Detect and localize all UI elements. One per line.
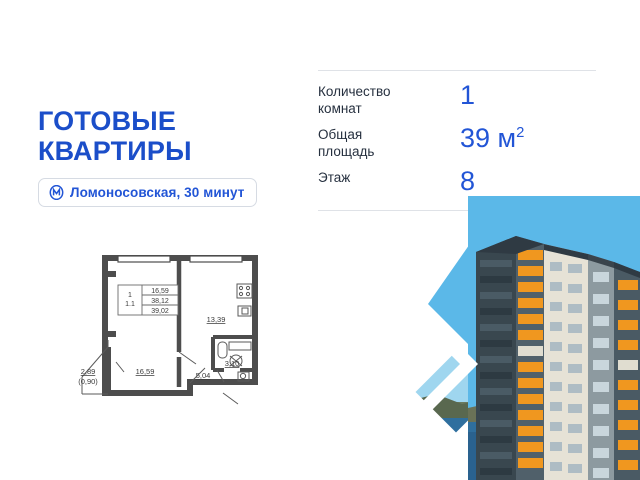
floorplan-walls — [105, 258, 255, 393]
spec-value-total-area-text: 39 м — [460, 123, 516, 153]
building-photo-composition — [392, 196, 640, 480]
spec-row-rooms: Количество комнат 1 — [318, 78, 596, 121]
floorplan-legend-table: 1 1.1 16,59 38,12 39,02 — [118, 285, 178, 315]
legend-left-1: 1.1 — [125, 301, 135, 308]
metro-station-label: Ломоносовская, 30 минут — [70, 185, 244, 200]
spec-value-floor-text: 8 — [460, 166, 475, 196]
apartment-spec-table: Количество комнат 1 Общая площадь 39 м2 … — [318, 70, 596, 211]
spec-row-total-area: Общая площадь 39 м2 — [318, 121, 596, 164]
legend-right-1: 38,12 — [151, 298, 169, 305]
spec-value-rooms: 1 — [460, 81, 475, 109]
metro-badge[interactable]: Ломоносовская, 30 минут — [38, 178, 257, 207]
label-balcony-coefficient: (0,90) — [78, 377, 98, 386]
metro-m-icon — [49, 185, 64, 200]
label-bathroom-area: 3,10 — [225, 359, 240, 368]
label-balcony-area: 2,89 — [81, 367, 96, 376]
apartment-building-photo — [468, 196, 640, 480]
label-kitchen-area: 13,39 — [207, 315, 226, 324]
legend-right-2: 39,02 — [151, 308, 169, 315]
headline-block: ГОТОВЫЕ КВАРТИРЫ Ломоносовская, 30 минут — [38, 106, 306, 207]
spec-value-rooms-text: 1 — [460, 80, 475, 110]
spec-label-floor: Этаж — [318, 167, 460, 187]
spec-value-total-area: 39 м2 — [460, 124, 524, 152]
label-living-room-area: 16,59 — [136, 367, 155, 376]
legend-left-0: 1 — [128, 292, 132, 299]
floorplan[interactable]: 1 1.1 16,59 38,12 39,02 16,59 13,39 5,04… — [72, 252, 287, 417]
spec-label-rooms: Количество комнат — [318, 81, 460, 118]
page-title: ГОТОВЫЕ КВАРТИРЫ — [38, 106, 306, 166]
spec-value-total-area-unit: 2 — [516, 125, 524, 141]
spec-value-floor: 8 — [460, 167, 475, 195]
legend-right-0: 16,59 — [151, 288, 169, 295]
label-corridor-area: 5,04 — [196, 371, 211, 380]
spec-label-total-area: Общая площадь — [318, 124, 460, 161]
